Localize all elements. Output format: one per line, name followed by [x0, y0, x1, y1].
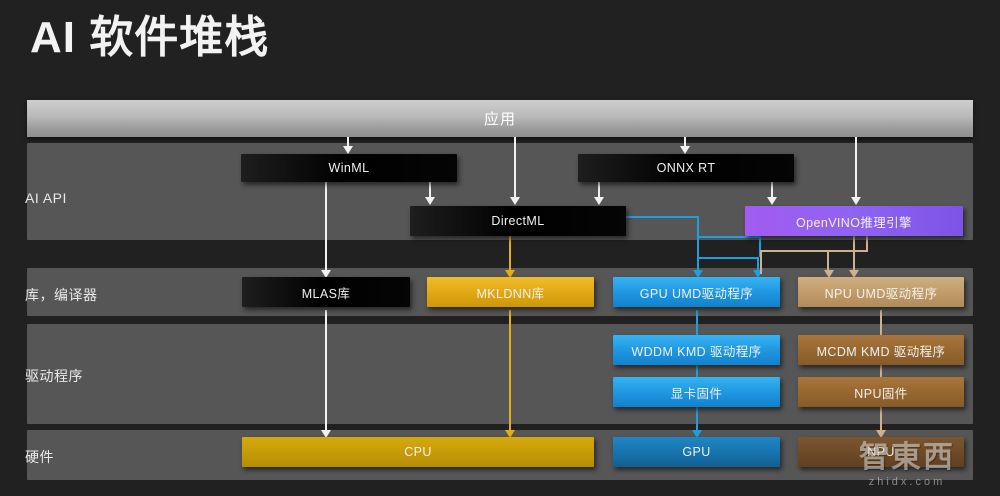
node-npu-label: NPU [867, 445, 895, 459]
node-gpu-label: GPU [682, 445, 710, 459]
layer-label-ai-api: AI API [25, 190, 67, 206]
arrow-app-to-openvino [851, 197, 861, 205]
node-npu[interactable]: NPU [798, 437, 964, 467]
arrow-onnxrt-to-openvino [767, 197, 777, 205]
node-winml-label: WinML [329, 161, 370, 175]
application-layer-label: 应用 [484, 108, 516, 129]
connector-openvino-to-npuumd-v3 [760, 250, 762, 274]
connector-directml-to-gpuumd-h1 [625, 216, 699, 218]
node-winml[interactable]: WinML [241, 154, 457, 182]
layer-label-driver: 驱动程序 [25, 366, 83, 386]
connector-mlas-to-cpu [325, 310, 327, 434]
connector-mkldnn-to-cpu [509, 310, 511, 434]
node-npu-umd[interactable]: NPU UMD驱动程序 [798, 277, 964, 307]
connector-app-to-openvino [855, 137, 857, 200]
node-gpu-umd[interactable]: GPU UMD驱动程序 [613, 277, 780, 307]
node-mkldnn-label: MKLDNN库 [476, 283, 544, 302]
node-mcdm-kmd[interactable]: MCDM KMD 驱动程序 [798, 335, 964, 365]
arrow-app-to-directml [510, 197, 520, 205]
node-onnxrt-label: ONNX RT [657, 161, 716, 175]
node-npu-firmware[interactable]: NPU固件 [798, 377, 964, 407]
node-wddm-kmd[interactable]: WDDM KMD 驱动程序 [613, 335, 780, 365]
node-gpu[interactable]: GPU [613, 437, 780, 467]
node-mcdm-kmd-label: MCDM KMD 驱动程序 [817, 341, 946, 360]
connector-openvino-to-gpuumd-h1 [697, 236, 761, 238]
application-layer-bar: 应用 [27, 100, 973, 137]
arrow-app-to-winml [343, 146, 353, 154]
node-npu-umd-label: NPU UMD驱动程序 [825, 283, 938, 302]
arrow-app-to-onnxrt [680, 146, 690, 154]
connector-openvino-to-npuumd-h1 [760, 250, 868, 252]
connector-gpuumd-to-wddm [696, 310, 698, 338]
node-gpu-firmware[interactable]: 显卡固件 [613, 377, 780, 407]
connector-app-to-directml [514, 137, 516, 200]
node-gpu-firmware-label: 显卡固件 [671, 383, 723, 402]
connector-openvino-to-npuumd-v1 [853, 236, 855, 274]
layer-label-library: 库，编译器 [25, 285, 98, 305]
node-gpu-umd-label: GPU UMD驱动程序 [640, 283, 753, 302]
connector-openvino-to-npuumd-v2 [866, 236, 868, 251]
node-openvino[interactable]: OpenVINO推理引擎 [745, 206, 963, 236]
node-mlas[interactable]: MLAS库 [242, 277, 410, 307]
connector-directml-to-gpuumd-h2 [697, 257, 759, 259]
layer-label-hardware: 硬件 [25, 447, 54, 467]
connector-openvino-to-npuumd-v4 [827, 250, 829, 274]
page-title: AI 软件堆栈 [30, 14, 269, 62]
connector-winml-to-mlas [325, 182, 327, 274]
node-cpu[interactable]: CPU [242, 437, 594, 467]
node-onnxrt[interactable]: ONNX RT [578, 154, 794, 182]
arrow-onnxrt-to-directml [594, 197, 604, 205]
node-directml-label: DirectML [491, 214, 544, 228]
slide-canvas: AI 软件堆栈 应用 AI API 库，编译器 驱动程序 硬件 [0, 0, 1000, 496]
connector-openvino-to-gpuumd-v2 [697, 236, 699, 272]
connector-npuumd-to-mcdm [880, 310, 882, 338]
connector-directml-to-mkldnn [509, 236, 511, 274]
arrow-winml-to-directml [425, 197, 435, 205]
node-mkldnn[interactable]: MKLDNN库 [427, 277, 594, 307]
node-openvino-label: OpenVINO推理引擎 [796, 212, 912, 231]
node-npu-firmware-label: NPU固件 [854, 383, 907, 402]
node-mlas-label: MLAS库 [302, 283, 351, 302]
node-wddm-kmd-label: WDDM KMD 驱动程序 [631, 341, 761, 360]
node-cpu-label: CPU [404, 445, 432, 459]
node-directml[interactable]: DirectML [410, 206, 626, 236]
